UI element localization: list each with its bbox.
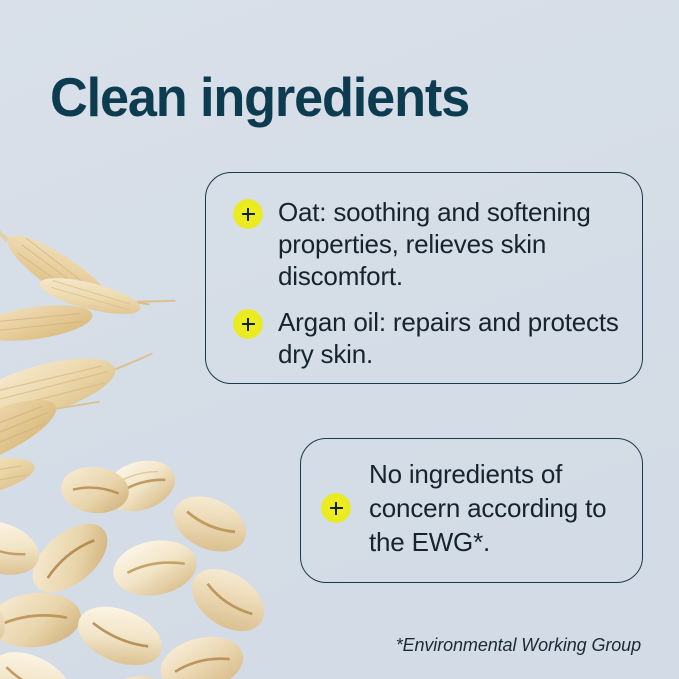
list-item: No ingredients of concern according to t… bbox=[321, 457, 628, 559]
ingredients-bullet-list: Oat: soothing and softening properties, … bbox=[233, 196, 624, 370]
plus-icon bbox=[233, 309, 263, 339]
product-infographic: Clean ingredients Oat: soothing and soft… bbox=[0, 0, 679, 679]
footnote: *Environmental Working Group bbox=[396, 633, 641, 657]
ewg-bullet-list: No ingredients of concern according to t… bbox=[321, 457, 628, 559]
list-item-label: Oat: soothing and softening properties, … bbox=[278, 196, 624, 292]
list-item: Oat: soothing and softening properties, … bbox=[233, 196, 624, 292]
ewg-card: No ingredients of concern according to t… bbox=[300, 438, 643, 583]
page-title: Clean ingredients bbox=[50, 67, 469, 127]
plus-icon bbox=[233, 199, 263, 229]
ingredients-card: Oat: soothing and softening properties, … bbox=[205, 172, 643, 384]
list-item-label: No ingredients of concern according to t… bbox=[369, 457, 628, 559]
list-item-label: Argan oil: repairs and protects dry skin… bbox=[278, 306, 624, 370]
plus-icon bbox=[321, 493, 351, 523]
list-item: Argan oil: repairs and protects dry skin… bbox=[233, 306, 624, 370]
